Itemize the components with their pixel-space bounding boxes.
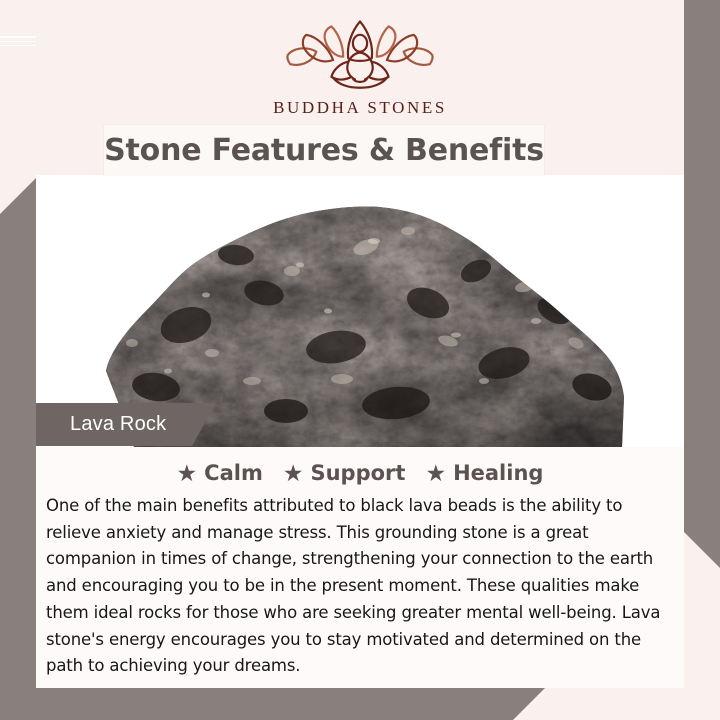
benefits-panel: ★ Calm ★ Support ★ Healing One of the ma…	[36, 447, 684, 688]
stone-name-label: Lava Rock	[36, 413, 166, 436]
star-icon: ★	[177, 462, 198, 485]
lotus-meditation-icon	[276, 18, 444, 92]
frame-band-right	[684, 0, 720, 568]
star-icon: ★	[425, 462, 446, 485]
stone-name-tag: Lava Rock	[36, 403, 216, 446]
feature-list: ★ Calm ★ Support ★ Healing	[36, 461, 684, 485]
content-sheet: BUDDHA STONES	[36, 0, 684, 688]
page-title: Stone Features & Benefits	[104, 133, 544, 168]
feature-label: Healing	[453, 461, 543, 485]
feature-label: Calm	[204, 461, 263, 485]
feature-label: Support	[310, 461, 405, 485]
feature-item-calm: ★ Calm	[177, 461, 263, 485]
feature-item-healing: ★ Healing	[425, 461, 543, 485]
frame-band-bottom	[0, 688, 545, 720]
section-title-banner: Stone Features & Benefits	[104, 125, 544, 175]
feature-item-support: ★ Support	[283, 461, 406, 485]
stone-features-card: BUDDHA STONES	[0, 0, 720, 720]
frame-band-left	[0, 178, 36, 720]
benefits-description: One of the main benefits attributed to b…	[36, 493, 684, 680]
star-icon: ★	[283, 462, 304, 485]
brand-name: BUDDHA STONES	[273, 98, 447, 118]
